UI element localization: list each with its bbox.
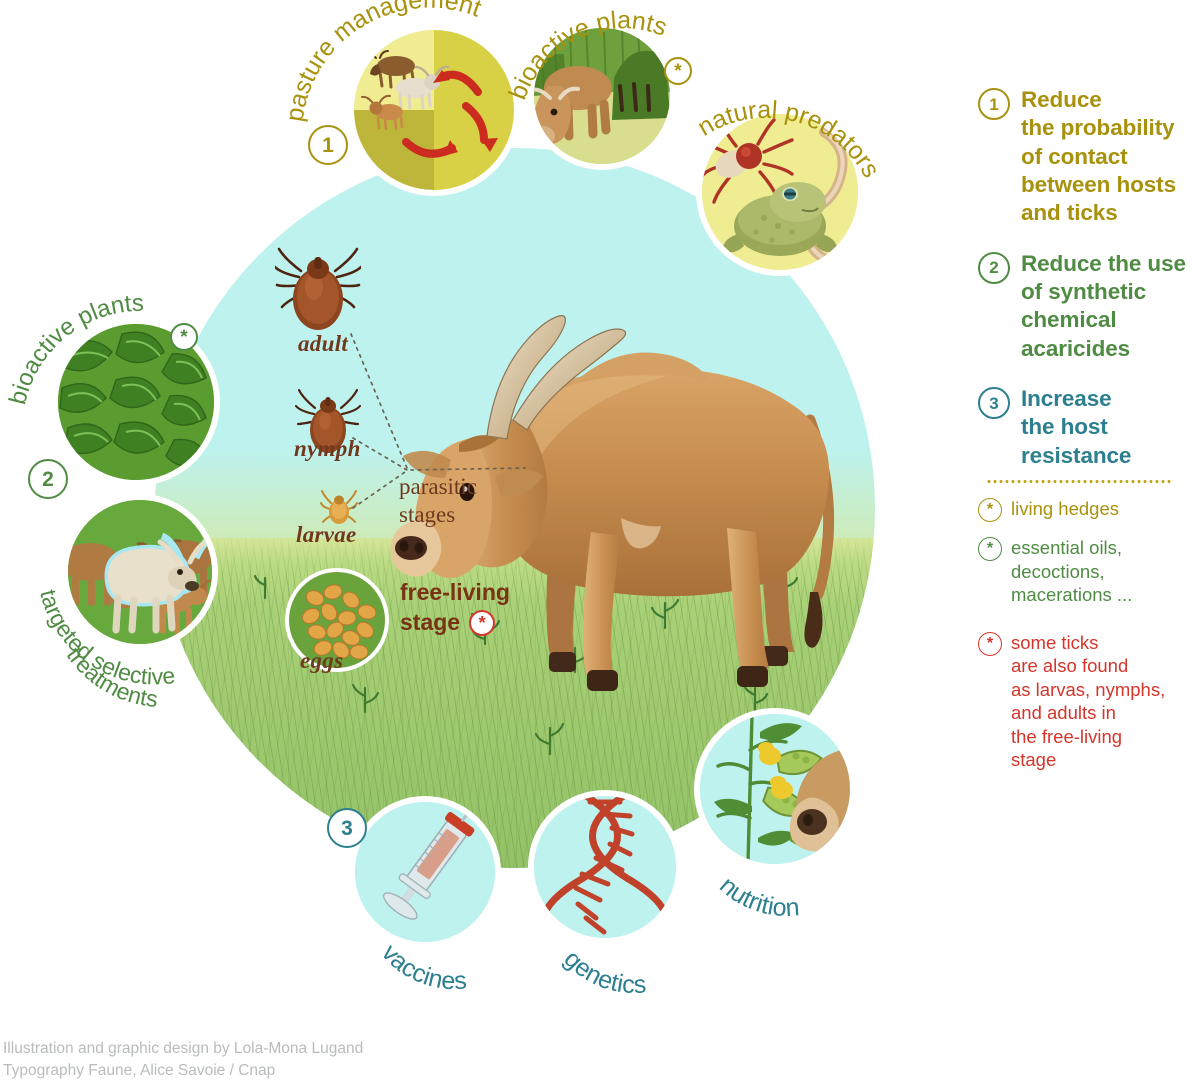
note-text-some-ticks: some ticks are also found as larvas, nym… [1011,631,1165,772]
legend-text-1: Reduce the probability of contact betwee… [1021,86,1176,228]
legend-badge-3: 3 [978,387,1010,419]
free-living-stage-label: free-living stage * [400,578,510,638]
asterisk-green-text: * [180,328,187,347]
svg-text:natural predators: natural predators [693,96,885,182]
note-asterisk-red-text: * [987,636,993,652]
legend-badge-1: 1 [978,88,1010,120]
genetics-label: genetics [559,945,648,999]
legend-1-line-1: the probability [1021,114,1176,142]
note-asterisk-gold-text: * [987,502,993,518]
note-1-line-0: essential oils, [1011,536,1132,559]
legend-text-3: Increase the host resistance [1021,385,1131,470]
legend-badge-2-text: 2 [989,259,998,276]
legend-panel: 1 Reduce the probability of contact betw… [978,86,1200,785]
stage-label-adult: adult [298,331,348,357]
svg-text:pasture management: pasture management [281,0,486,123]
legend-item-3[interactable]: 3 Increase the host resistance [978,385,1200,470]
note-0-line-0: living hedges [1011,497,1119,520]
badge-3-text: 3 [341,818,353,839]
badge-1-text: 1 [322,135,334,156]
credit-block: Illustration and graphic design by Lola-… [3,1038,363,1081]
svg-text:nutrition: nutrition [714,871,800,922]
asterisk-red-text: * [479,614,486,632]
stage-label-nymph: nymph [294,436,361,462]
note-text-living-hedges: living hedges [1011,497,1119,520]
parasitic-stages-label: parasitic stages [399,473,477,529]
free-living-line1: free-living [400,578,510,608]
nutrition-label: nutrition [714,871,800,922]
legend-2-line-0: Reduce the use [1021,250,1186,278]
legend-1-line-0: Reduce [1021,86,1176,114]
bioactive-plants-left-label: bioactive plants [4,290,144,408]
legend-2-line-3: acaricides [1021,335,1186,363]
legend-1-line-2: of contact [1021,143,1176,171]
note-1-line-2: macerations ... [1011,583,1132,606]
legend-text-2: Reduce the use of synthetic chemical aca… [1021,250,1186,363]
legend-1-line-3: between hosts [1021,171,1176,199]
note-item-some-ticks: * some ticks are also found as larvas, n… [978,631,1200,772]
legend-item-1[interactable]: 1 Reduce the probability of contact betw… [978,86,1200,228]
label-nutrition: nutrition [698,852,878,918]
svg-text:genetics: genetics [559,945,648,999]
badge-number-1: 1 [308,125,348,165]
note-2-line-2: as larvas, nymphs, [1011,678,1165,701]
label-genetics: genetics [536,930,706,994]
infographic-root: pasture management 1 [0,0,1200,1081]
free-living-line2: stage [400,608,460,638]
legend-badge-2: 2 [978,252,1010,284]
vaccines-label: vaccines [376,939,468,995]
legend-badge-3-text: 3 [989,395,998,412]
label-natural-predators: natural predators [676,76,896,256]
note-2-line-0: some ticks [1011,631,1165,654]
legend-3-line-2: resistance [1021,442,1131,470]
node-vaccines[interactable] [349,796,501,948]
asterisk-badge-green: * [170,323,198,351]
badge-number-2: 2 [28,459,68,499]
natural-predators-label: natural predators [693,96,885,182]
stage-label-larvae: larvae [296,522,357,548]
note-asterisk-green-text: * [987,541,993,557]
label-bioactive-plants-left: bioactive plants [14,292,234,422]
note-item-essential-oils: * essential oils, decoctions, maceration… [978,536,1200,606]
label-vaccines: vaccines [358,928,518,988]
note-2-line-4: the free-living [1011,725,1165,748]
legend-divider [986,480,1172,483]
svg-text:bioactive plants: bioactive plants [504,6,671,103]
badge-number-3: 3 [327,808,367,848]
legend-2-line-1: of synthetic [1021,278,1186,306]
legend-3-line-1: the host [1021,413,1131,441]
note-asterisk-gold: * [978,498,1002,522]
legend-item-2[interactable]: 2 Reduce the use of synthetic chemical a… [978,250,1200,363]
credit-line-2: Typography Faune, Alice Savoie / Cnap [3,1060,363,1081]
note-item-living-hedges: * living hedges [978,497,1200,522]
stage-label-eggs: eggs [300,648,343,674]
note-asterisk-green: * [978,537,1002,561]
note-asterisk-red: * [978,632,1002,656]
note-1-line-1: decoctions, [1011,560,1132,583]
svg-text:vaccines: vaccines [376,939,468,995]
badge-2-text: 2 [42,469,54,490]
node-nutrition[interactable] [694,708,856,870]
parasitic-stages-line1: parasitic [399,473,477,501]
credit-line-1: Illustration and graphic design by Lola-… [3,1038,363,1060]
legend-1-line-4: and ticks [1021,199,1176,227]
pasture-management-label: pasture management [281,0,486,123]
note-text-essential-oils: essential oils, decoctions, macerations … [1011,536,1132,606]
label-targeted-selective-treatments: targeted selective treatments [18,576,248,716]
node-genetics[interactable] [528,790,682,944]
label-pasture-management: pasture management [288,2,538,132]
parasitic-stages-line2: stages [399,501,477,529]
legend-3-line-0: Increase [1021,385,1131,413]
note-2-line-3: and adults in [1011,701,1165,724]
note-2-line-5: stage [1011,748,1165,771]
legend-badge-1-text: 1 [989,96,998,113]
svg-text:bioactive plants: bioactive plants [4,290,144,408]
legend-2-line-2: chemical [1021,306,1186,334]
asterisk-badge-red: * [469,610,495,636]
bioactive-plants-top-label: bioactive plants [504,6,671,103]
note-2-line-1: are also found [1011,654,1165,677]
